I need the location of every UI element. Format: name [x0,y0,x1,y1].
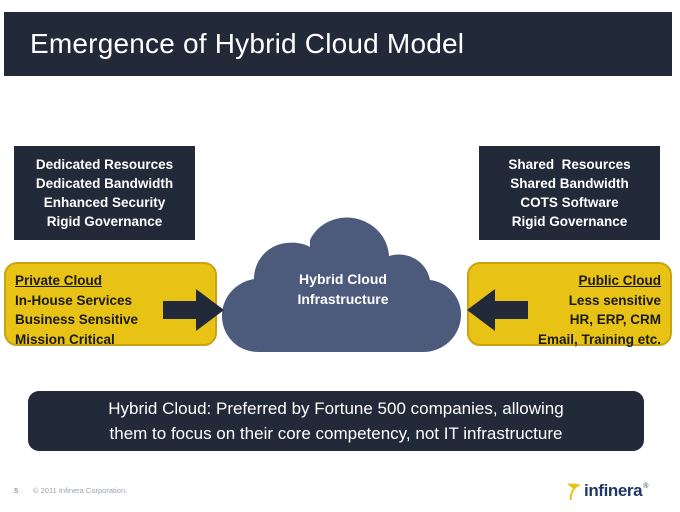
public-cloud-attributes-box: Shared Resources Shared Bandwidth COTS S… [479,146,660,240]
attribute-line: Shared Bandwidth [510,174,629,193]
slide-title-bar: Emergence of Hybrid Cloud Model [4,12,672,76]
attribute-line: Shared Resources [508,155,630,174]
brand-name: infinera [584,481,642,501]
arrow-left-icon [466,288,528,337]
swoosh-icon [566,482,583,501]
summary-line1: Hybrid Cloud: Preferred by Fortune 500 c… [108,396,563,421]
copyright-notice: © 2011 Infinera Corporation. [33,486,127,495]
arrow-right-icon [163,288,225,337]
summary-banner: Hybrid Cloud: Preferred by Fortune 500 c… [28,391,644,451]
page-number: 5 [14,486,18,495]
infinera-logo: infinera ® [566,480,648,502]
attribute-line: COTS Software [520,193,618,212]
private-cloud-attributes-box: Dedicated Resources Dedicated Bandwidth … [14,146,195,240]
summary-line2: them to focus on their core competency, … [110,421,563,446]
attribute-line: Dedicated Resources [36,155,173,174]
attribute-line: Rigid Governance [512,212,628,231]
cloud-icon [218,212,468,362]
attribute-line: Dedicated Bandwidth [36,174,173,193]
attribute-line: Rigid Governance [47,212,163,231]
page-title: Emergence of Hybrid Cloud Model [4,28,464,60]
hybrid-cloud-shape: Hybrid Cloud Infrastructure [218,212,468,362]
attribute-line: Enhanced Security [44,193,166,212]
registered-trademark: ® [643,483,648,490]
